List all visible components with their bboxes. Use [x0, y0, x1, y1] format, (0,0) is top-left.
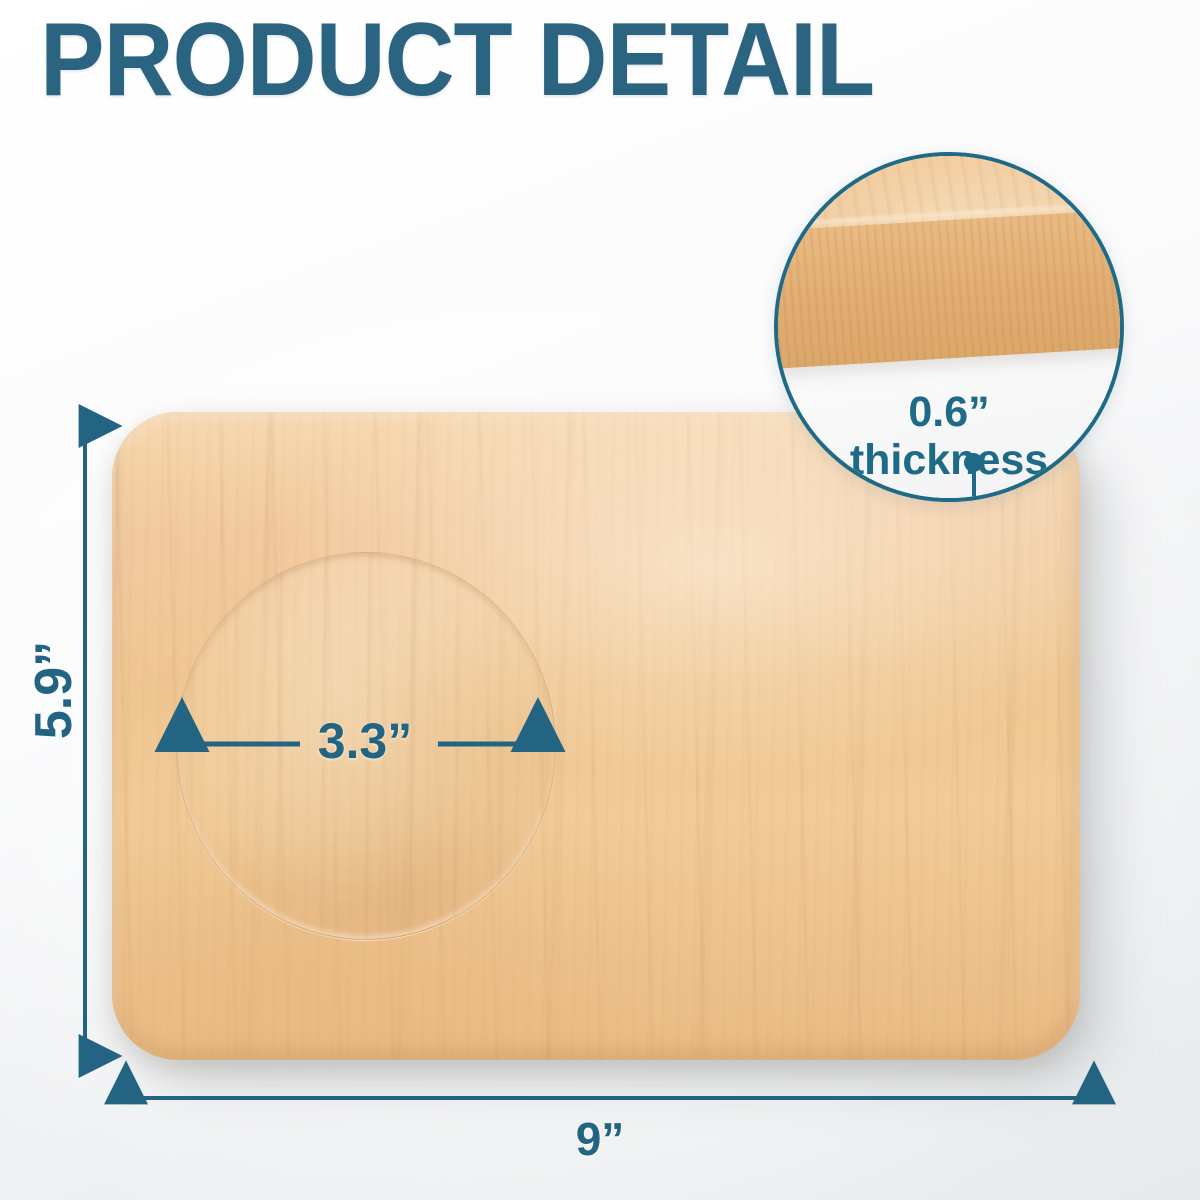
- product-detail-graphic: PRODUCT DETAIL 5.9”: [0, 0, 1200, 1200]
- thickness-callout-text: 0.6” thickness: [778, 388, 1120, 484]
- width-dimension-label: 9”: [540, 1112, 660, 1166]
- height-dimension-label: 5.9”: [24, 630, 84, 750]
- board-edge-closeup: [774, 152, 1124, 371]
- thickness-value: 0.6”: [778, 388, 1120, 436]
- page-title: PRODUCT DETAIL: [40, 6, 874, 114]
- diameter-dimension-label: 3.3”: [300, 712, 430, 770]
- slab-side-grain: [774, 207, 1124, 370]
- thickness-callout-bubble: 0.6” thickness: [774, 152, 1124, 502]
- thickness-word: thickness: [778, 436, 1120, 484]
